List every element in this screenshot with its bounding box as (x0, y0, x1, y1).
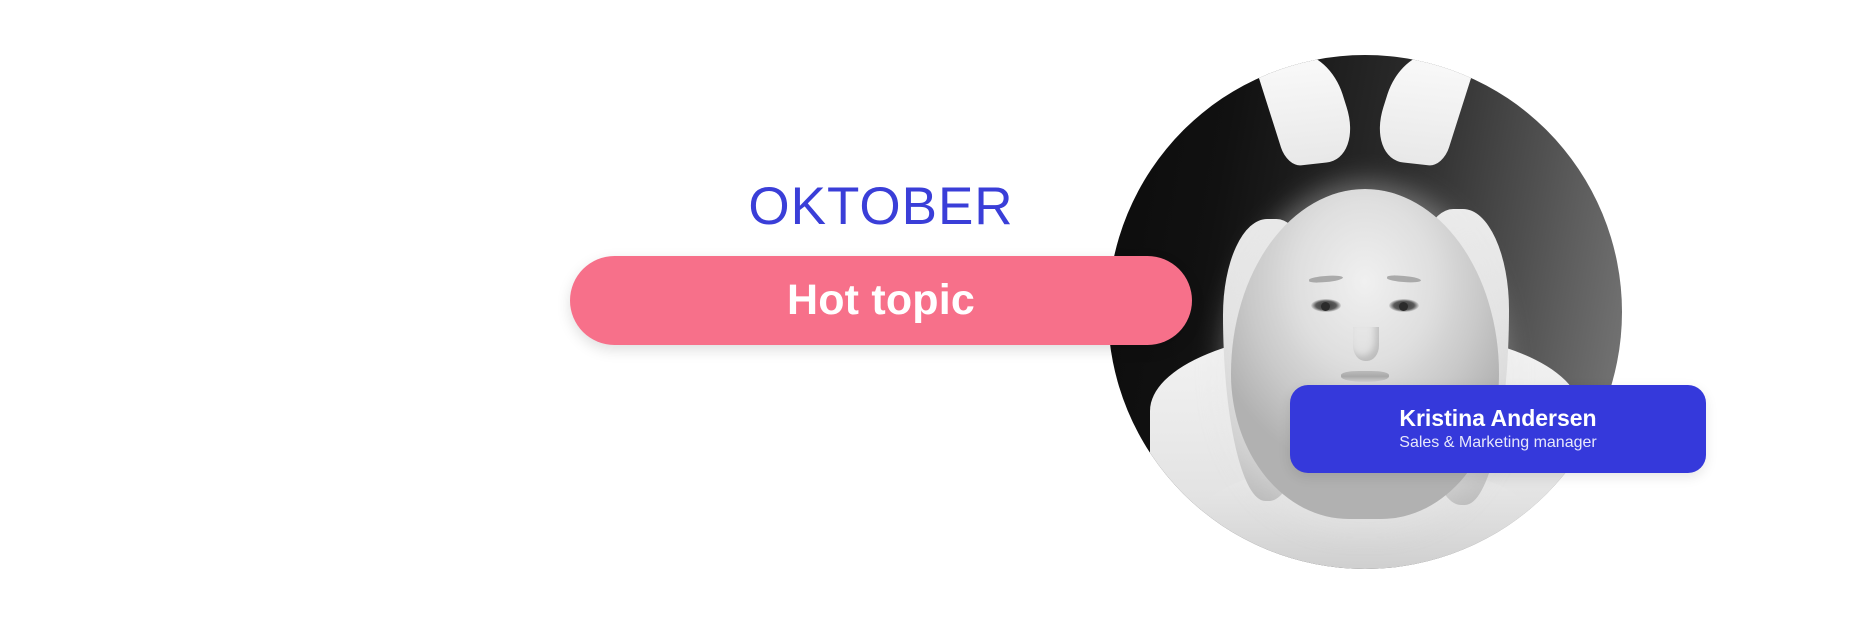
month-label: OKTOBER (570, 180, 1192, 233)
hot-topic-banner[interactable]: Hot topic (570, 256, 1192, 345)
collar-right-shape (1367, 55, 1477, 167)
speaker-card[interactable]: Kristina Andersen Sales & Marketing mana… (1290, 385, 1706, 473)
speaker-role: Sales & Marketing manager (1399, 433, 1596, 452)
collar-left-shape (1253, 55, 1363, 167)
promo-banner: OKTOBER Hot topic Kristina Andersen Sale… (0, 0, 1875, 625)
nose-shape (1353, 327, 1379, 361)
hot-topic-label: Hot topic (787, 279, 975, 322)
speaker-name: Kristina Andersen (1399, 406, 1596, 432)
